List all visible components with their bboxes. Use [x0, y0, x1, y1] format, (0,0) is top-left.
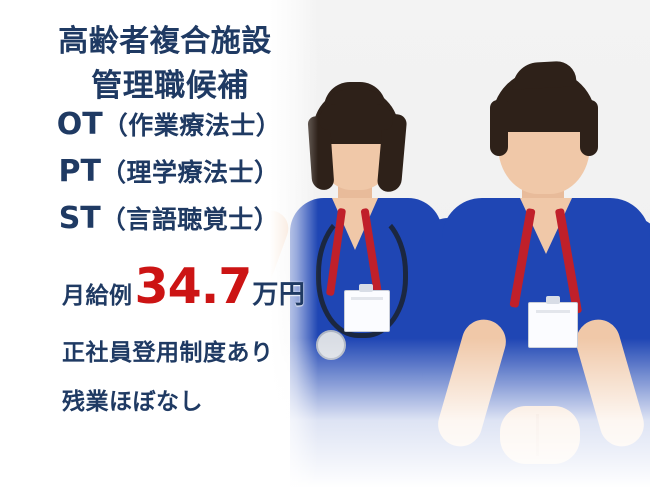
- qualification-row-ot: OT（作業療法士）: [0, 106, 338, 142]
- recruitment-banner: 高齢者複合施設 管理職候補 OT（作業療法士） PT（理学療法士） ST（言語聴…: [0, 0, 650, 488]
- benefit-note-overtime: 残業ほぼなし: [62, 382, 203, 416]
- male-hair-left: [490, 100, 508, 156]
- qualification-name-pt: （理学療法士）: [101, 158, 280, 187]
- female-badge-clip: [359, 284, 373, 292]
- qualification-abbr-pt: PT: [59, 154, 101, 189]
- qualification-row-st: ST（言語聴覚士）: [0, 200, 338, 236]
- male-hair-right: [580, 100, 598, 156]
- headline-position: 管理職候補: [0, 60, 340, 105]
- qualification-name-st: （言語聴覚士）: [101, 205, 280, 234]
- qualification-abbr-st: ST: [59, 201, 101, 236]
- qualification-row-pt: PT（理学療法士）: [0, 153, 338, 189]
- male-hair-spikes: [511, 60, 576, 89]
- qualification-name-ot: （作業療法士）: [103, 111, 282, 140]
- headline-facility-type: 高齢者複合施設: [0, 16, 330, 60]
- benefit-note-fulltime: 正社員登用制度あり: [62, 333, 274, 367]
- qualification-abbr-ot: OT: [57, 107, 103, 142]
- salary-row: 月給例 34.7 万円: [0, 262, 330, 311]
- male-badge-clip: [546, 296, 560, 304]
- headline-text-block: 高齢者複合施設 管理職候補 OT（作業療法士） PT（理学療法士） ST（言語聴…: [0, 0, 340, 488]
- female-id-badge: [344, 290, 390, 332]
- salary-label: 月給例: [62, 276, 133, 310]
- salary-unit: 万円: [252, 274, 305, 311]
- salary-amount: 34.7: [135, 262, 252, 311]
